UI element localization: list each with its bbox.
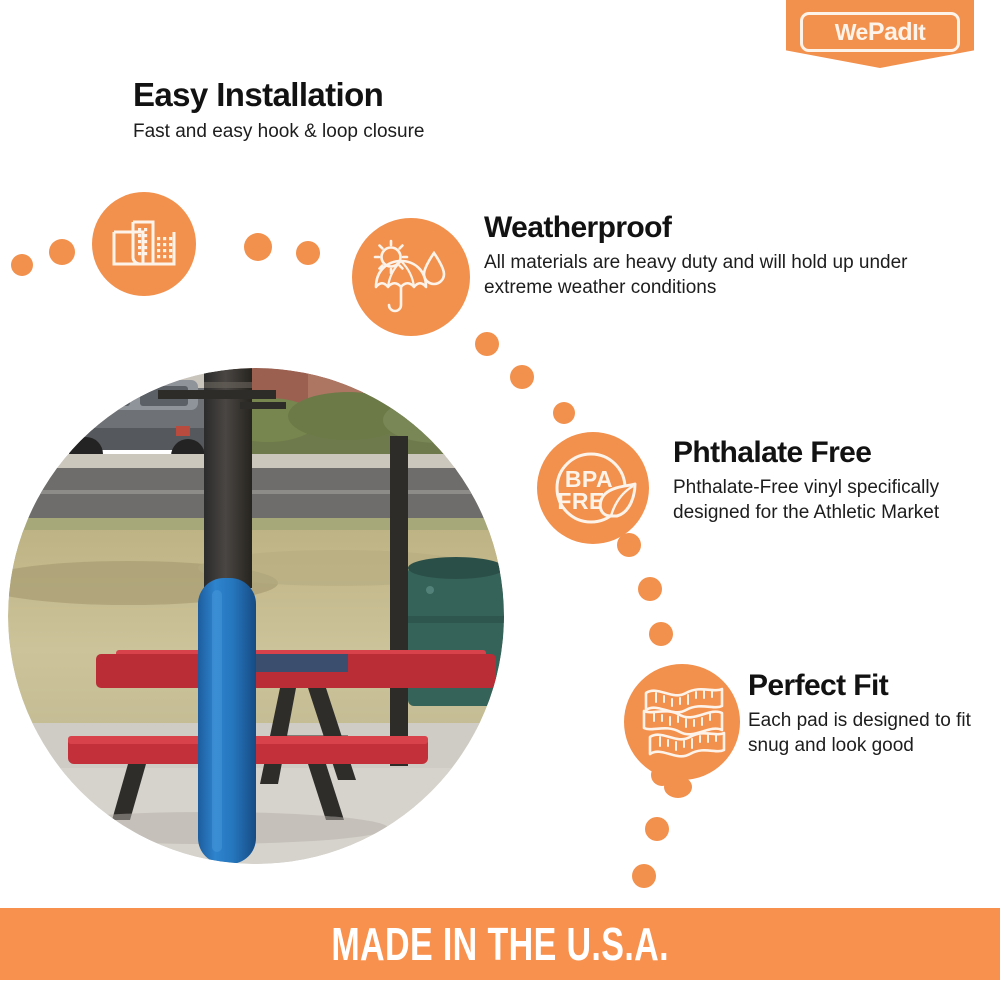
feature-title-perfect-fit: Perfect Fit bbox=[748, 670, 983, 702]
buildings-icon bbox=[92, 192, 196, 296]
path-dot bbox=[296, 241, 320, 265]
tape-measure-icon bbox=[624, 664, 740, 780]
feature-easy-installation: Easy Installation Fast and easy hook & l… bbox=[133, 78, 563, 144]
made-in-usa-banner: MADE IN THE U.S.A. bbox=[0, 908, 1000, 980]
feature-description-weatherproof: All materials are heavy duty and will ho… bbox=[484, 250, 914, 300]
path-dot bbox=[244, 233, 272, 261]
path-dot bbox=[645, 817, 669, 841]
path-dot bbox=[49, 239, 75, 265]
brand-logo-text: WePadIt bbox=[835, 20, 926, 45]
brand-logo-text-we: We bbox=[835, 19, 868, 45]
feature-perfect-fit: Perfect Fit Each pad is designed to fit … bbox=[748, 670, 983, 758]
feature-description-phthalate-free: Phthalate-Free vinyl specifically design… bbox=[673, 475, 973, 525]
feature-weatherproof: Weatherproof All materials are heavy dut… bbox=[484, 212, 914, 300]
feature-phthalate-free: Phthalate Free Phthalate-Free vinyl spec… bbox=[673, 437, 973, 525]
product-photo bbox=[8, 368, 504, 864]
feature-description-perfect-fit: Each pad is designed to fit snug and loo… bbox=[748, 708, 983, 758]
path-dot bbox=[553, 402, 575, 424]
path-dot bbox=[11, 254, 33, 276]
brand-logo-text-pad: Pad bbox=[868, 18, 912, 46]
brand-logo-text-it: It bbox=[912, 19, 925, 45]
feature-title-easy-installation: Easy Installation bbox=[133, 78, 563, 113]
sun-umbrella-raindrop-icon bbox=[352, 218, 470, 336]
feature-description-easy-installation: Fast and easy hook & loop closure bbox=[133, 119, 563, 144]
tape-measure-tab bbox=[664, 776, 692, 798]
path-dot bbox=[510, 365, 534, 389]
infographic-page: WePadIt Easy Installation Fast and easy … bbox=[0, 0, 1000, 987]
brand-logo[interactable]: WePadIt bbox=[786, 0, 974, 68]
made-in-usa-text: MADE IN THE U.S.A. bbox=[331, 917, 669, 971]
path-dot bbox=[632, 864, 656, 888]
brand-logo-frame: WePadIt bbox=[800, 12, 960, 52]
path-dot bbox=[649, 622, 673, 646]
feature-title-weatherproof: Weatherproof bbox=[484, 212, 914, 244]
path-dot bbox=[638, 577, 662, 601]
path-dot bbox=[475, 332, 499, 356]
feature-title-phthalate-free: Phthalate Free bbox=[673, 437, 973, 469]
bpa-free-leaf-icon: BPA FREE bbox=[537, 432, 649, 544]
